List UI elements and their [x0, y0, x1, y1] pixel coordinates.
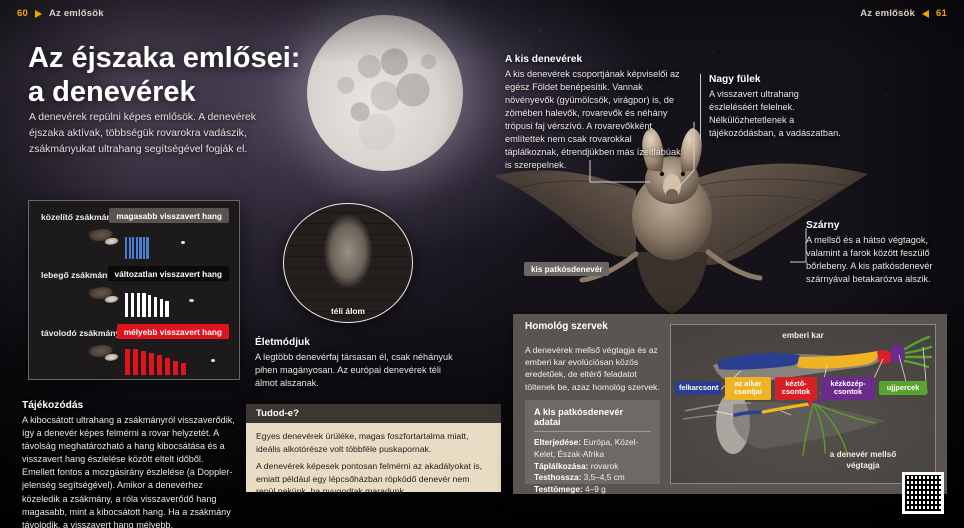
sound-bar: [165, 301, 168, 317]
bone-label-kezto-csontok: kéztő-csontok: [775, 377, 817, 400]
sound-bar: [148, 295, 151, 317]
echo-row-tag: változatlan visszavert hang: [108, 266, 229, 281]
echo-row-tag: magasabb visszavert hang: [109, 208, 229, 223]
title-line-1: Az éjszaka emlősei:: [28, 42, 300, 74]
homolog-intro: A denevérek mellső végtagja és az emberi…: [525, 344, 660, 393]
species-data-value: 4–9 g: [585, 484, 606, 494]
species-data-row: Táplálkozása: rovarok: [534, 461, 651, 473]
running-head-left: 60 Az emlősök: [17, 8, 104, 19]
sound-bar: [136, 237, 138, 259]
sound-bar: [157, 355, 162, 375]
did-you-know-paragraph-1: Egyes denevérek ürüléke, magas foszforta…: [256, 430, 491, 455]
callout-body: A legtöbb denevérfaj társasan él, csak n…: [255, 351, 455, 390]
did-you-know-paragraph-2: A denevérek képesek pontosan felmérni az…: [256, 460, 491, 498]
intro-paragraph: A denevérek repülni képes emlősök. A den…: [29, 110, 284, 157]
bone-comparison-diagram: emberi kar a denevér mellső végtagja fel…: [670, 324, 936, 484]
species-data-row: Elterjedése: Európa, Közel-Kelet, Észak-…: [534, 437, 651, 461]
page-number-right: 61: [936, 8, 947, 19]
sound-bar: [165, 358, 170, 375]
sound-bar: [131, 293, 134, 317]
callout-body: A kis denevérek csoportjának képviselői …: [505, 68, 685, 173]
species-data-value: rovarok: [591, 461, 619, 471]
echo-row-label: távolodó zsákmány: [41, 328, 120, 338]
callout-heading: A kis denevérek: [505, 54, 685, 65]
prey-dot: [211, 359, 215, 362]
qr-code-matrix: [905, 475, 941, 511]
callout-szarny: Szárny A mellső és a hátsó végtagok, val…: [806, 220, 951, 286]
bone-label-alkar-csontjai: az alkar csontjai: [725, 377, 771, 400]
photo-tag-kis-patkosdenever: kis patkósdenevér: [524, 262, 609, 276]
species-data-key: Testhossza:: [534, 472, 581, 482]
echo-row: távolodó zsákmány mélyebb visszavert han…: [29, 321, 239, 381]
callout-kis-denever: A kis denevérek A kis denevérek csoportj…: [505, 54, 685, 173]
echo-bars-2: [125, 349, 186, 375]
section-label-left: Az emlősök: [49, 8, 104, 19]
bone-label-felkarcsont: felkarcsont: [675, 381, 721, 395]
callout-heading: Szárny: [806, 220, 951, 231]
species-data-key: Táplálkozása:: [534, 461, 588, 471]
echo-row: közelítő zsákmány magasabb visszavert ha…: [29, 205, 239, 265]
echolocation-panel: közelítő zsákmány magasabb visszavert ha…: [28, 200, 240, 380]
callout-body: A visszavert ultrahang észleléséért fele…: [709, 88, 850, 140]
sound-bar: [142, 293, 145, 317]
diagram-caption-bat-limb: a denevér mellső végtagja: [813, 449, 913, 471]
did-you-know-heading: Tudod-e?: [246, 404, 501, 423]
species-data-row: Testtömege: 4–9 g: [534, 484, 651, 496]
sound-bar: [133, 349, 138, 375]
triangle-right-icon: [35, 10, 42, 18]
callout-heading: Életmódjuk: [255, 337, 455, 348]
hibernation-photo: téli álom: [283, 203, 413, 323]
diagram-caption-human-arm: emberi kar: [671, 331, 935, 340]
triangle-left-icon: [922, 10, 929, 18]
species-data-key: Testtömege:: [534, 484, 583, 494]
echo-row-tag: mélyebb visszavert hang: [117, 324, 229, 339]
sound-bar: [160, 299, 163, 317]
bone-label-ujjpercek: ujjpercek: [879, 381, 927, 395]
moon-image: [307, 15, 463, 171]
sound-bar: [146, 237, 148, 259]
sound-bar: [149, 353, 154, 375]
running-head-right: Az emlősök 61: [860, 8, 947, 19]
callout-heading: Tájékozódás: [22, 400, 237, 411]
sound-bar: [137, 293, 140, 317]
callout-eletmodjuk: Életmódjuk A legtöbb denevérfaj társasan…: [255, 337, 455, 390]
sound-bar: [173, 361, 178, 375]
sound-bar: [125, 293, 128, 317]
qr-code[interactable]: [902, 472, 944, 514]
species-data-row: Testhossza: 3,5–4,5 cm: [534, 472, 651, 484]
sound-bar: [143, 237, 145, 259]
sound-bar: [132, 237, 134, 259]
sound-bar: [125, 349, 130, 375]
prey-dot: [189, 299, 194, 302]
sound-bar: [125, 237, 127, 259]
sound-bar: [154, 297, 157, 317]
species-data-key: Elterjedése:: [534, 437, 581, 447]
echo-row-label: lebegő zsákmány: [41, 270, 112, 280]
moth-icon: [85, 281, 122, 309]
echo-bars-0: [125, 233, 149, 259]
homologous-organs-panel: Homológ szervek A denevérek mellső végta…: [513, 314, 947, 494]
species-data-value: 3,5–4,5 cm: [584, 472, 625, 482]
callout-body: A mellső és a hátsó végtagok, valamint a…: [806, 234, 951, 286]
magazine-spread: 60 Az emlősök Az emlősök 61 Az éjszaka e…: [0, 0, 964, 528]
callout-nagy-fulek: Nagy fülek A visszavert ultrahang észlel…: [700, 74, 850, 140]
species-data-title: A kis patkósdenevér adatai: [534, 407, 651, 432]
did-you-know-body: Egyes denevérek ürüléke, magas foszforta…: [246, 423, 501, 498]
callout-tajekozodas: Tájékozódás A kibocsátott ultrahang a zs…: [22, 400, 237, 528]
sound-bar: [129, 237, 131, 259]
echo-row-label: közelítő zsákmány: [41, 212, 116, 222]
sound-bar: [181, 363, 186, 375]
echo-row: lebegő zsákmány változatlan visszavert h…: [29, 263, 239, 323]
page-number-left: 60: [17, 8, 28, 19]
section-label-right: Az emlősök: [860, 8, 915, 19]
echo-bars-1: [125, 291, 169, 317]
callout-body: A kibocsátott ultrahang a zsákmányról vi…: [22, 414, 237, 528]
callout-heading: Nagy fülek: [709, 74, 850, 85]
prey-dot: [181, 241, 185, 244]
title-line-2: a denevérek: [28, 76, 328, 110]
page-title: Az éjszaka emlősei: a denevérek: [28, 42, 328, 109]
moth-icon: [85, 223, 122, 251]
sound-bar: [139, 237, 141, 259]
did-you-know-box: Tudod-e? Egyes denevérek ürüléke, magas …: [246, 404, 501, 492]
sound-bar: [141, 351, 146, 375]
hibernation-caption: téli álom: [284, 306, 412, 316]
moth-icon: [85, 339, 122, 367]
species-data-box: A kis patkósdenevér adatai Elterjedése: …: [525, 400, 660, 484]
bone-label-kezkozep-csontok: kézközép-csontok: [821, 377, 875, 400]
